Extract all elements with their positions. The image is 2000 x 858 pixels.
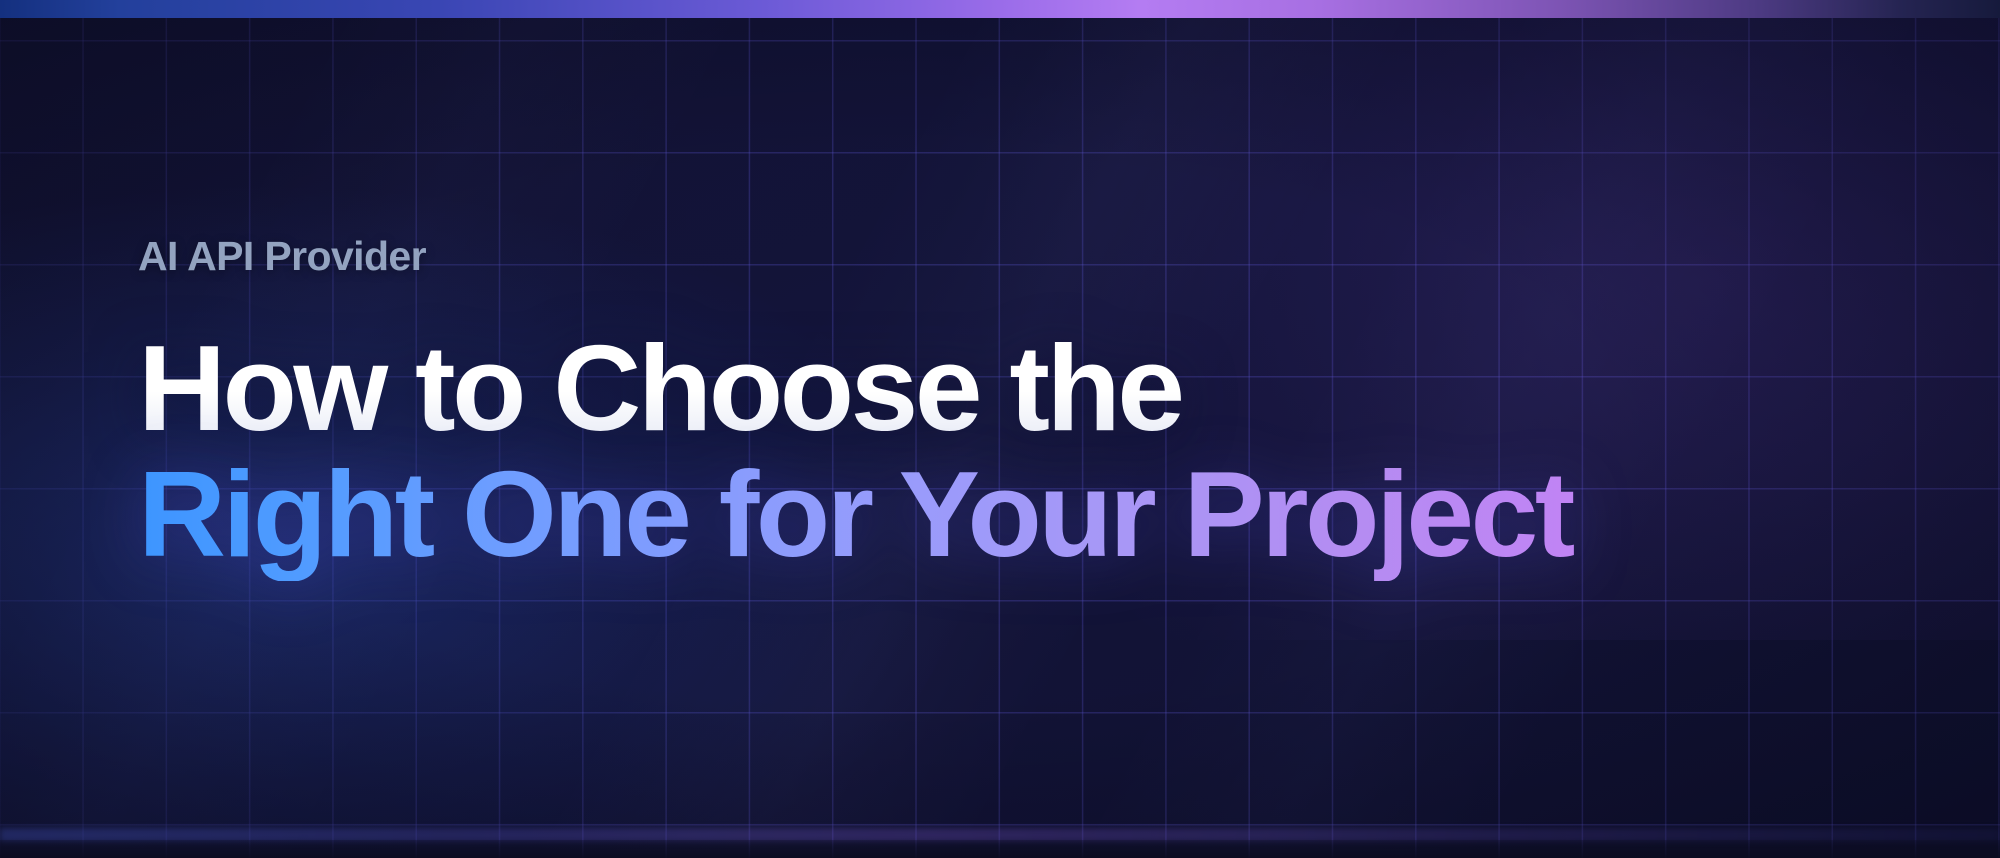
- headline-line-2: Right One for Your Project: [138, 449, 1838, 581]
- page-title: How to Choose the Right One for Your Pro…: [138, 323, 1838, 581]
- headline-line-1: How to Choose the: [138, 323, 1838, 455]
- top-accent-bar: [0, 0, 2000, 18]
- eyebrow-label: AI API Provider: [138, 236, 1838, 277]
- hero-content: AI API Provider How to Choose the Right …: [138, 236, 1838, 581]
- hero-banner: AI API Provider How to Choose the Right …: [0, 0, 2000, 858]
